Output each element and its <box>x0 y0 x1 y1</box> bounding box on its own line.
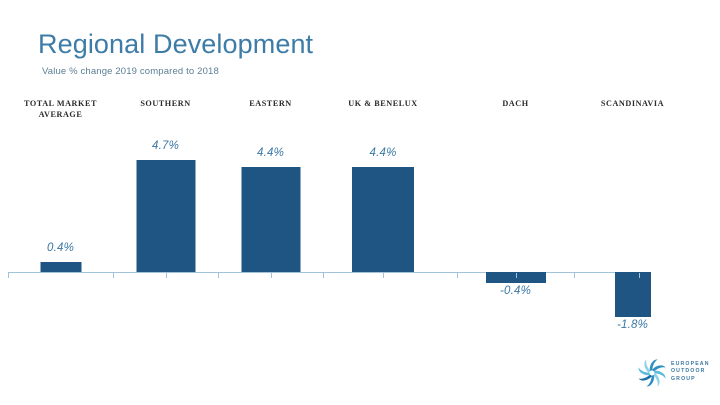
category-label: DACH <box>457 98 574 109</box>
bar[interactable] <box>615 272 651 317</box>
data-label: 0.4% <box>47 242 74 254</box>
data-label: 4.7% <box>152 140 179 152</box>
axis-tick <box>166 273 167 278</box>
category-label: TOTAL MARKET AVERAGE <box>8 98 113 120</box>
axis-tick <box>516 273 517 278</box>
bar-chart: TOTAL MARKET AVERAGE 0.4% SOUTHERN 4.7% … <box>0 95 720 355</box>
data-label: 4.4% <box>257 147 284 159</box>
axis-tick <box>383 273 384 278</box>
slide-canvas: Regional Development Value % change 2019… <box>0 0 720 405</box>
eog-pinwheel-icon <box>636 357 668 389</box>
axis-tick <box>323 273 324 278</box>
bar[interactable] <box>352 167 414 272</box>
chart-category-5: SCANDINAVIA -1.8% <box>574 95 691 355</box>
logo-text: EUROPEAN OUTDOOR GROUP <box>671 361 710 383</box>
bar[interactable] <box>241 167 300 272</box>
category-label: EASTERN <box>218 98 323 109</box>
axis-tick <box>8 273 9 278</box>
data-label: -1.8% <box>617 319 648 331</box>
page-subtitle: Value % change 2019 compared to 2018 <box>42 66 219 78</box>
chart-category-4: DACH -0.4% <box>457 95 574 355</box>
chart-category-3: UK & BENELUX 4.4% <box>323 95 443 355</box>
bar[interactable] <box>40 262 81 272</box>
chart-category-0: TOTAL MARKET AVERAGE 0.4% <box>8 95 113 355</box>
chart-category-2: EASTERN 4.4% <box>218 95 323 355</box>
axis-tick <box>639 273 640 278</box>
bar[interactable] <box>136 160 195 272</box>
category-label: SCANDINAVIA <box>574 98 691 109</box>
axis-tick <box>271 273 272 278</box>
axis-tick <box>218 273 219 278</box>
category-label: SOUTHERN <box>113 98 218 109</box>
axis-tick <box>113 273 114 278</box>
axis-tick <box>574 273 575 278</box>
data-label: -0.4% <box>500 285 531 297</box>
chart-category-1: SOUTHERN 4.7% <box>113 95 218 355</box>
eog-logo: EUROPEAN OUTDOOR GROUP <box>636 356 716 392</box>
page-title: Regional Development <box>38 28 313 60</box>
axis-tick <box>457 273 458 278</box>
category-label: UK & BENELUX <box>323 98 443 109</box>
data-label: 4.4% <box>369 147 396 159</box>
